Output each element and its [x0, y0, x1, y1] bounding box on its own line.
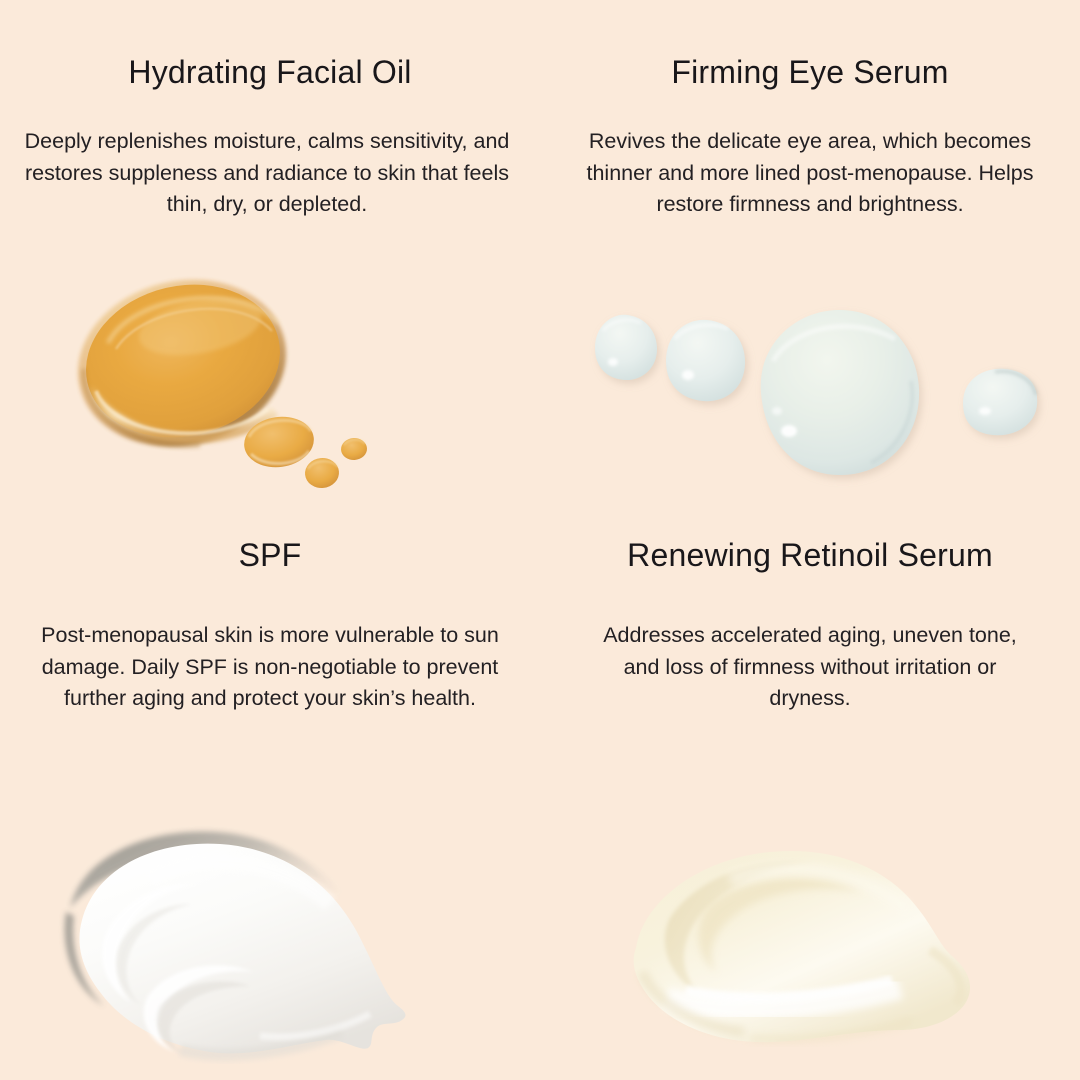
product-grid: Hydrating Facial Oil Deeply replenishes … [0, 0, 1080, 1080]
spf-cream-swatch [30, 800, 450, 1080]
product-title-spf: SPF [0, 540, 540, 573]
oil-droplet-swatch [50, 265, 410, 515]
retinoil-cream-swatch [600, 822, 1020, 1072]
product-description-renewing-retinoil-serum: Addresses accelerated aging, uneven tone… [540, 620, 1080, 715]
product-card-renewing-retinoil-serum: Renewing Retinoil Serum Addresses accele… [540, 540, 1080, 1080]
product-title-hydrating-facial-oil: Hydrating Facial Oil [0, 55, 540, 90]
serum-droplets-swatch [565, 265, 1065, 515]
product-description-hydrating-facial-oil: Deeply replenishes moisture, calms sensi… [0, 126, 540, 221]
product-title-firming-eye-serum: Firming Eye Serum [540, 55, 1080, 90]
product-card-hydrating-facial-oil: Hydrating Facial Oil Deeply replenishes … [0, 0, 540, 540]
product-description-firming-eye-serum: Revives the delicate eye area, which bec… [540, 126, 1080, 221]
product-card-firming-eye-serum: Firming Eye Serum Revives the delicate e… [540, 0, 1080, 540]
product-description-spf: Post-menopausal skin is more vulnerable … [0, 620, 540, 715]
product-card-spf: SPF Post-menopausal skin is more vulnera… [0, 540, 540, 1080]
product-title-renewing-retinoil-serum: Renewing Retinoil Serum [540, 540, 1080, 573]
